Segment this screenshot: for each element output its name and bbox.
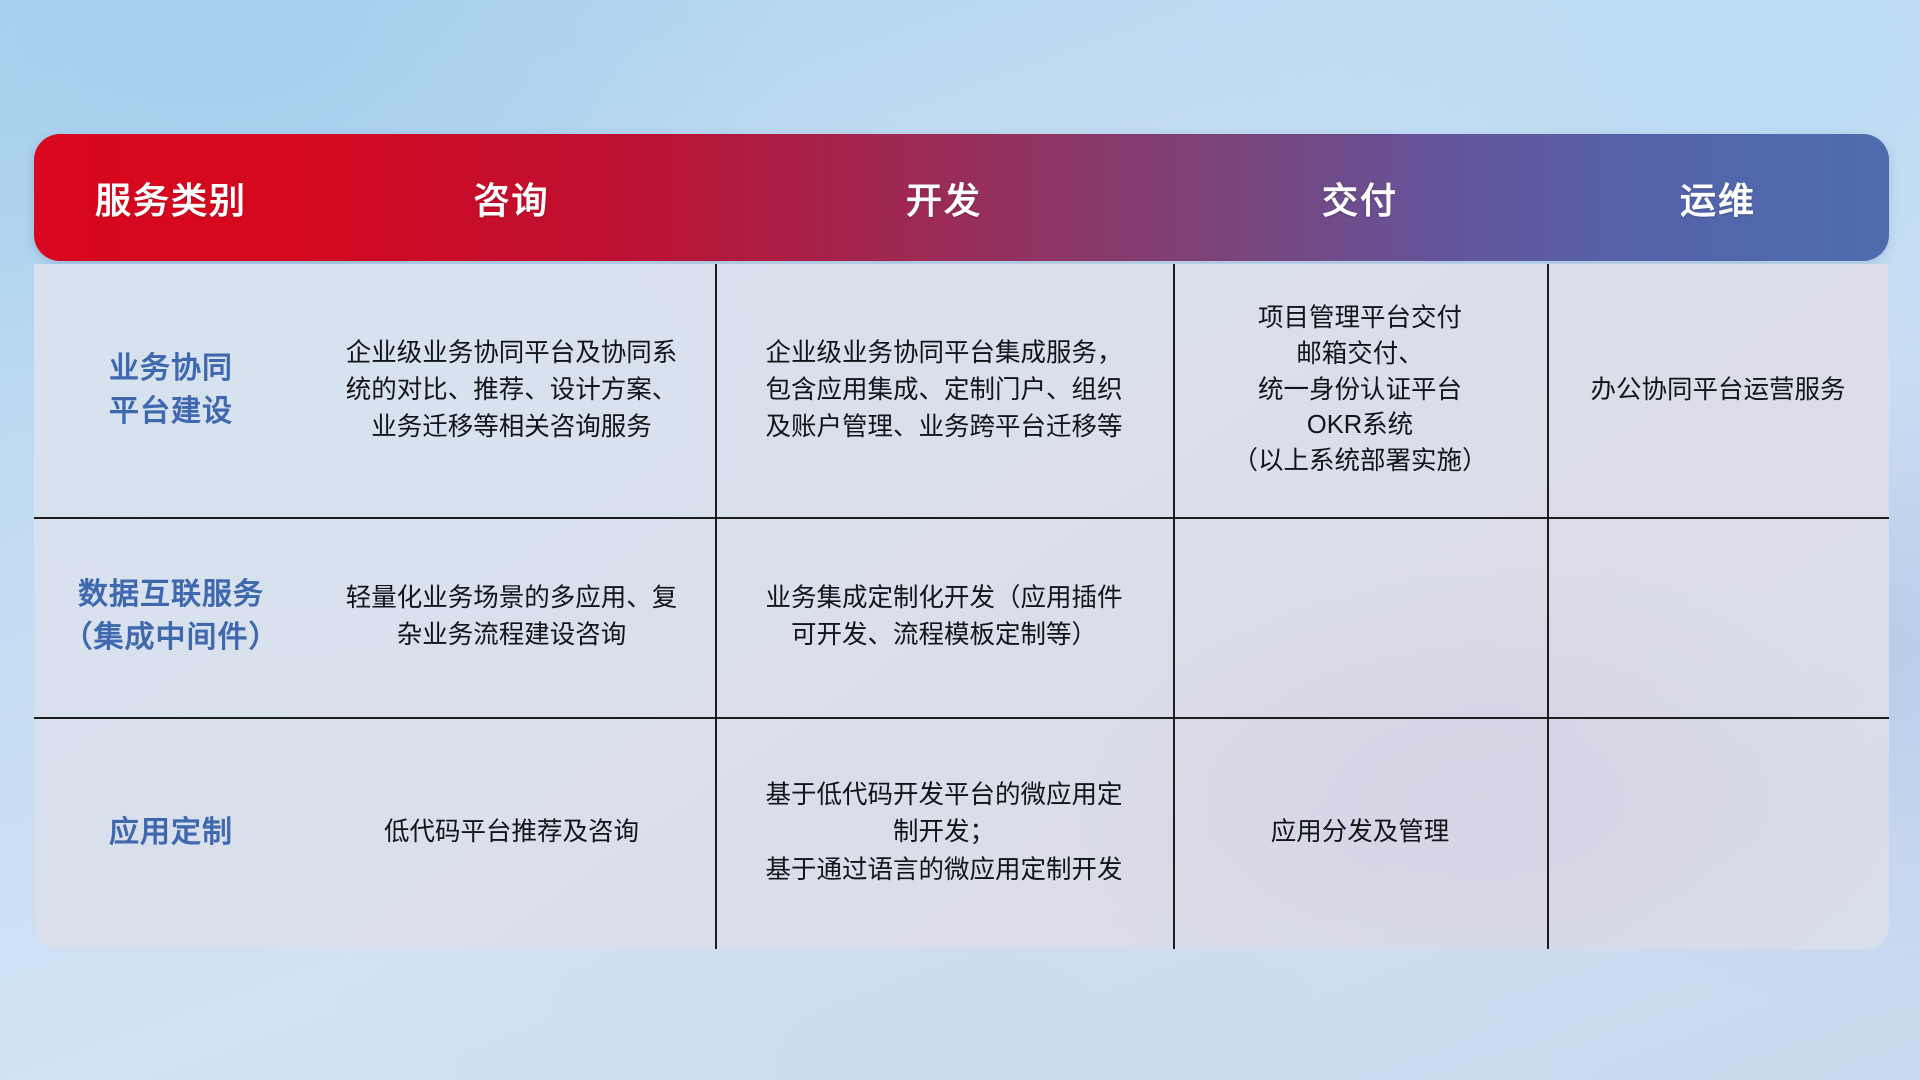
- cell-text: 业务集成定制化开发（应用插件 可开发、流程模板定制等）: [765, 580, 1122, 654]
- table-row: 业务协同 平台建设 企业级业务协同平台及协同系 统的对比、推荐、设计方案、 业务…: [34, 264, 1889, 517]
- table-body: 业务协同 平台建设 企业级业务协同平台及协同系 统的对比、推荐、设计方案、 业务…: [34, 264, 1889, 949]
- cell-delivery: 应用分发及管理: [1173, 717, 1547, 949]
- cell-delivery: 项目管理平台交付 邮箱交付、 统一身份认证平台 OKR系统 （以上系统部署实施）: [1173, 264, 1547, 517]
- cell-text: 应用分发及管理: [1271, 814, 1450, 851]
- cell-text: 轻量化业务场景的多应用、复 杂业务流程建设咨询: [346, 580, 678, 654]
- table-header-row: 服务类别 咨询 开发 交付 运维: [34, 134, 1889, 261]
- cell-delivery: [1173, 517, 1547, 717]
- row-label-text: 数据互联服务 （集成中间件）: [63, 574, 280, 659]
- cell-text: 企业级业务协同平台及协同系 统的对比、推荐、设计方案、 业务迁移等相关咨询服务: [346, 335, 678, 447]
- cell-consulting: 轻量化业务场景的多应用、复 杂业务流程建设咨询: [308, 517, 715, 717]
- cell-development: 基于低代码开发平台的微应用定 制开发； 基于通过语言的微应用定制开发: [715, 717, 1173, 949]
- column-header-category: 服务类别: [34, 172, 308, 224]
- cell-text: 基于低代码开发平台的微应用定 制开发； 基于通过语言的微应用定制开发: [765, 777, 1122, 889]
- column-header-operations: 运维: [1547, 172, 1889, 224]
- cell-text: 企业级业务协同平台集成服务， 包含应用集成、定制门户、组织 及账户管理、业务跨平…: [765, 335, 1122, 447]
- row-label-cell: 业务协同 平台建设: [34, 264, 308, 517]
- cell-development: 企业级业务协同平台集成服务， 包含应用集成、定制门户、组织 及账户管理、业务跨平…: [715, 264, 1173, 517]
- cell-operations: 办公协同平台运营服务: [1547, 264, 1889, 517]
- table-row: 数据互联服务 （集成中间件） 轻量化业务场景的多应用、复 杂业务流程建设咨询 业…: [34, 517, 1889, 717]
- cell-operations: [1547, 717, 1889, 949]
- cell-text: 低代码平台推荐及咨询: [384, 814, 639, 851]
- row-label-cell: 应用定制: [34, 717, 308, 949]
- table-row: 应用定制 低代码平台推荐及咨询 基于低代码开发平台的微应用定 制开发； 基于通过…: [34, 717, 1889, 949]
- cell-consulting: 企业级业务协同平台及协同系 统的对比、推荐、设计方案、 业务迁移等相关咨询服务: [308, 264, 715, 517]
- cell-text: 办公协同平台运营服务: [1590, 372, 1845, 409]
- cell-text: 项目管理平台交付 邮箱交付、 统一身份认证平台 OKR系统 （以上系统部署实施）: [1232, 301, 1487, 479]
- column-header-development: 开发: [715, 172, 1173, 224]
- row-label-text: 应用定制: [109, 812, 233, 855]
- cell-operations: [1547, 517, 1889, 717]
- cell-consulting: 低代码平台推荐及咨询: [308, 717, 715, 949]
- row-label-text: 业务协同 平台建设: [109, 348, 233, 433]
- cell-development: 业务集成定制化开发（应用插件 可开发、流程模板定制等）: [715, 517, 1173, 717]
- column-header-delivery: 交付: [1173, 172, 1547, 224]
- service-category-table: 服务类别 咨询 开发 交付 运维 业务协同 平台建设 企业级业务协同平台及协同系…: [34, 134, 1889, 949]
- row-label-cell: 数据互联服务 （集成中间件）: [34, 517, 308, 717]
- column-header-consulting: 咨询: [308, 172, 715, 224]
